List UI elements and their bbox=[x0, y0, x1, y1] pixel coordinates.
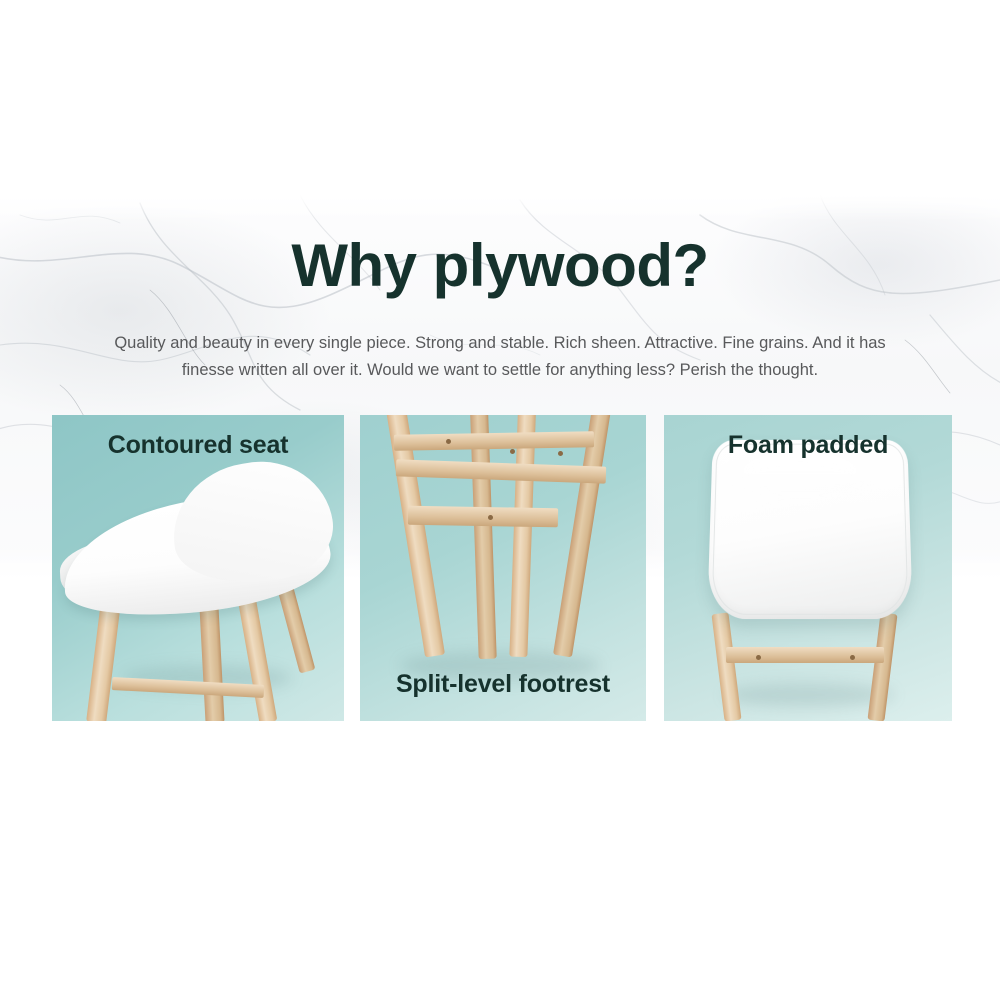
feature-panel-split-level-footrest[interactable]: Split-level footrest bbox=[360, 415, 646, 721]
panel-label-foam-padded: Foam padded bbox=[664, 431, 952, 460]
product-feature-banner: Why plywood? Quality and beauty in every… bbox=[0, 0, 1000, 1000]
feature-panel-foam-padded[interactable]: Foam padded bbox=[664, 415, 952, 721]
feature-panel-group: Contoured seat Split-level footrest bbox=[0, 415, 1000, 721]
marble-top-fade bbox=[0, 195, 1000, 221]
panel-label-split-level-footrest: Split-level footrest bbox=[360, 670, 646, 699]
panel-label-contoured-seat: Contoured seat bbox=[52, 431, 344, 460]
foam-seat bbox=[707, 440, 913, 619]
page-title: Why plywood? bbox=[0, 236, 1000, 296]
foam-padded-illustration bbox=[664, 415, 952, 721]
page-subtitle: Quality and beauty in every single piece… bbox=[110, 330, 890, 384]
feature-panel-contoured-seat[interactable]: Contoured seat bbox=[52, 415, 344, 721]
contoured-seat-illustration bbox=[52, 415, 344, 721]
